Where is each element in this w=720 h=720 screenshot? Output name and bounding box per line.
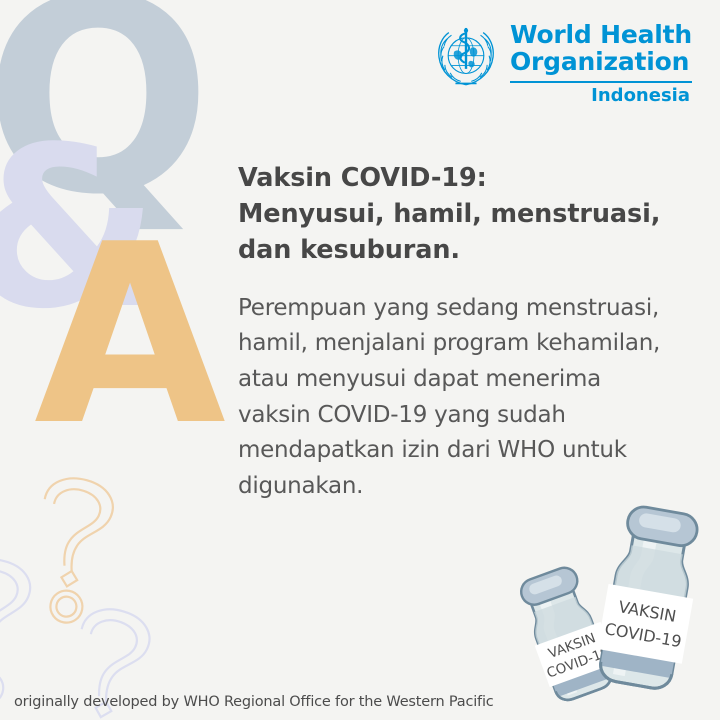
decorative-letter-q: Q bbox=[0, 0, 212, 232]
covid-vaccine-vials-illustration: VAKSIN COVID-19 VAKSIN bbox=[500, 497, 720, 712]
who-line-1: World Health bbox=[510, 22, 692, 49]
who-country-label: Indonesia bbox=[591, 87, 692, 105]
question-mark-gold bbox=[24, 473, 117, 627]
decorative-qa-letters: Q & A bbox=[0, 0, 260, 440]
decorative-question-marks bbox=[0, 455, 240, 720]
who-wordmark: World Health Organization Indonesia bbox=[510, 22, 692, 105]
page-title: Vaksin COVID-19: Menyusui, hamil, menstr… bbox=[238, 160, 666, 269]
who-logo: World Health Organization Indonesia bbox=[433, 22, 692, 105]
vial-large-label-line1: VAKSIN bbox=[617, 597, 678, 626]
vial-small: VAKSIN COVID-19 bbox=[513, 562, 622, 705]
vial-large-label-line2: COVID-19 bbox=[603, 619, 683, 651]
vial-small-label-line2: COVID-19 bbox=[545, 644, 612, 681]
question-mark-lavender-left bbox=[0, 555, 34, 707]
who-emblem-icon bbox=[433, 24, 499, 90]
body-paragraph: Perempuan yang sedang menstruasi, hamil,… bbox=[238, 291, 666, 505]
decorative-letter-a: A bbox=[34, 212, 226, 460]
vial-large: VAKSIN COVID-19 bbox=[592, 503, 707, 692]
who-divider-rule bbox=[510, 81, 692, 83]
decorative-letter-ampersand: & bbox=[0, 118, 160, 340]
question-marks-svg bbox=[0, 455, 240, 720]
poster-canvas: Q & A bbox=[0, 0, 720, 720]
vial-small-label-line1: VAKSIN bbox=[546, 630, 598, 662]
vaccine-vials-svg: VAKSIN COVID-19 VAKSIN bbox=[500, 497, 720, 712]
main-content: Vaksin COVID-19: Menyusui, hamil, menstr… bbox=[238, 160, 666, 504]
who-line-2: Organization bbox=[510, 49, 689, 76]
footer-credit: originally developed by WHO Regional Off… bbox=[14, 694, 494, 710]
